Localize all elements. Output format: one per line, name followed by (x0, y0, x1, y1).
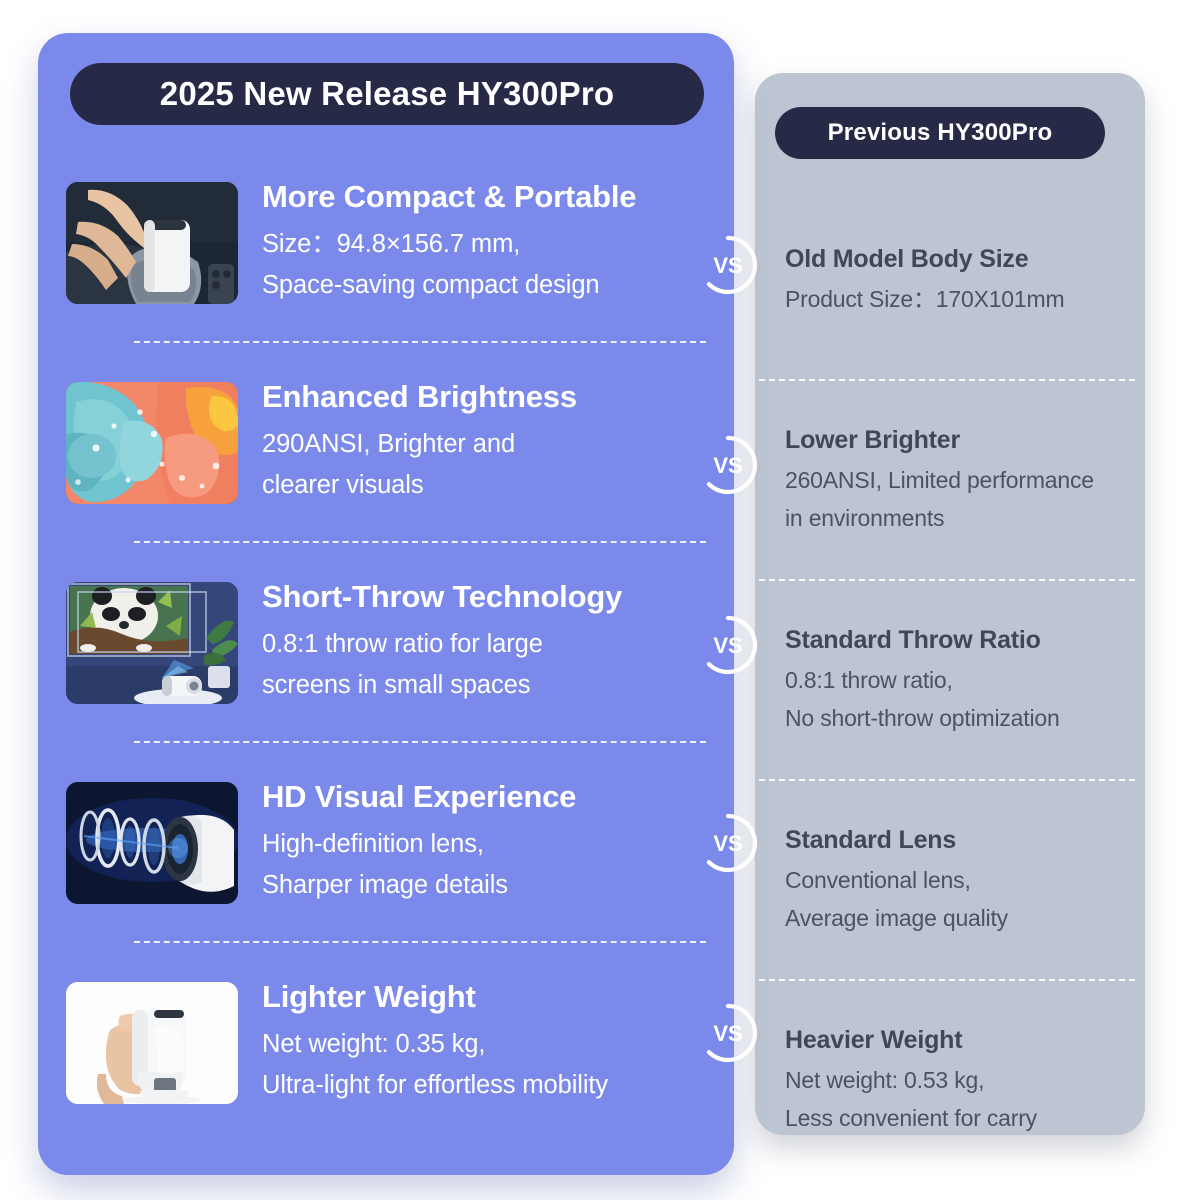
svg-text:VS: VS (713, 831, 742, 856)
vs-badge-2: VS (697, 434, 759, 496)
new-row-lighter-weight: Lighter Weight Net weight: 0.35 kg, Ultr… (38, 943, 734, 1143)
svg-text:VS: VS (713, 453, 742, 478)
previous-row-desc-line1: Product Size：170X101mm (785, 281, 1129, 318)
new-row-desc-line1: 0.8:1 throw ratio for large (262, 624, 706, 665)
new-row-desc-line2: Ultra-light for effortless mobility (262, 1065, 706, 1106)
new-row-hd-visual: HD Visual Experience High-definition len… (38, 743, 734, 943)
previous-row-lens: Standard Lens Conventional lens, Average… (755, 781, 1145, 981)
previous-model-header-label: Previous HY300Pro (828, 119, 1053, 147)
new-row-desc-line1: High-definition lens, (262, 824, 706, 865)
previous-model-rows: Old Model Body Size Product Size：170X101… (755, 181, 1145, 1181)
new-row-text: Short-Throw Technology 0.8:1 throw ratio… (262, 579, 706, 706)
new-row-desc-line1: Size：94.8×156.7 mm, (262, 224, 706, 265)
previous-row-throw-ratio: Standard Throw Ratio 0.8:1 throw ratio, … (755, 581, 1145, 781)
previous-row-title: Heavier Weight (785, 1025, 1129, 1055)
previous-row-title: Old Model Body Size (785, 244, 1129, 274)
new-row-text: More Compact & Portable Size：94.8×156.7 … (262, 179, 706, 306)
previous-row-desc-line2: No short-throw optimization (785, 700, 1129, 737)
svg-text:VS: VS (713, 253, 742, 278)
previous-row-title: Standard Lens (785, 825, 1129, 855)
previous-row-desc-line1: 260ANSI, Limited performance (785, 462, 1129, 499)
new-row-desc-line1: Net weight: 0.35 kg, (262, 1024, 706, 1065)
previous-row-desc-line2: Average image quality (785, 900, 1129, 937)
new-row-text: Enhanced Brightness 290ANSI, Brighter an… (262, 379, 706, 506)
new-row-short-throw: Short-Throw Technology 0.8:1 throw ratio… (38, 543, 734, 743)
hand-holding-projector-photo (66, 982, 238, 1104)
previous-row-desc-line1: Conventional lens, (785, 862, 1129, 899)
previous-row-desc-line1: 0.8:1 throw ratio, (785, 662, 1129, 699)
previous-model-panel: Previous HY300Pro Old Model Body Size Pr… (755, 73, 1145, 1135)
previous-row-title: Standard Throw Ratio (785, 625, 1129, 655)
projector-in-backpack-photo (66, 182, 238, 304)
new-row-desc-line2: clearer visuals (262, 465, 706, 506)
new-row-title: Short-Throw Technology (262, 579, 706, 616)
new-row-title: More Compact & Portable (262, 179, 706, 216)
new-row-desc-line1: 290ANSI, Brighter and (262, 424, 706, 465)
new-row-title: Enhanced Brightness (262, 379, 706, 416)
new-row-desc-line2: screens in small spaces (262, 665, 706, 706)
svg-text:VS: VS (713, 633, 742, 658)
svg-text:VS: VS (713, 1021, 742, 1046)
vs-badge-1: VS (697, 234, 759, 296)
new-row-text: HD Visual Experience High-definition len… (262, 779, 706, 906)
comparison-infographic: Previous HY300Pro Old Model Body Size Pr… (0, 0, 1200, 1200)
new-row-desc-line2: Sharper image details (262, 865, 706, 906)
previous-model-header-badge: Previous HY300Pro (775, 107, 1105, 159)
vs-badge-5: VS (697, 1002, 759, 1064)
exploded-lens-elements-photo (66, 782, 238, 904)
previous-row-desc-line2: Less convenient for carry (785, 1100, 1129, 1137)
previous-row-desc-line2: in environments (785, 500, 1129, 537)
new-row-compact: More Compact & Portable Size：94.8×156.7 … (38, 143, 734, 343)
previous-row-desc-line1: Net weight: 0.53 kg, (785, 1062, 1129, 1099)
new-row-title: HD Visual Experience (262, 779, 706, 816)
new-row-title: Lighter Weight (262, 979, 706, 1016)
vs-badge-4: VS (697, 812, 759, 874)
previous-row-title: Lower Brighter (785, 425, 1129, 455)
new-release-rows: More Compact & Portable Size：94.8×156.7 … (38, 143, 734, 1143)
new-release-panel: 2025 New Release HY300Pro (38, 33, 734, 1175)
previous-row-brightness: Lower Brighter 260ANSI, Limited performa… (755, 381, 1145, 581)
colorful-glossy-petals-photo (66, 382, 238, 504)
new-row-brightness: Enhanced Brightness 290ANSI, Brighter an… (38, 343, 734, 543)
new-row-desc-line2: Space-saving compact design (262, 265, 706, 306)
new-row-text: Lighter Weight Net weight: 0.35 kg, Ultr… (262, 979, 706, 1106)
projector-panda-projection-photo (66, 582, 238, 704)
previous-row-weight: Heavier Weight Net weight: 0.53 kg, Less… (755, 981, 1145, 1181)
new-release-header-badge: 2025 New Release HY300Pro (70, 63, 704, 125)
vs-badge-3: VS (697, 614, 759, 676)
new-release-header-label: 2025 New Release HY300Pro (160, 75, 614, 113)
previous-row-body-size: Old Model Body Size Product Size：170X101… (755, 181, 1145, 381)
